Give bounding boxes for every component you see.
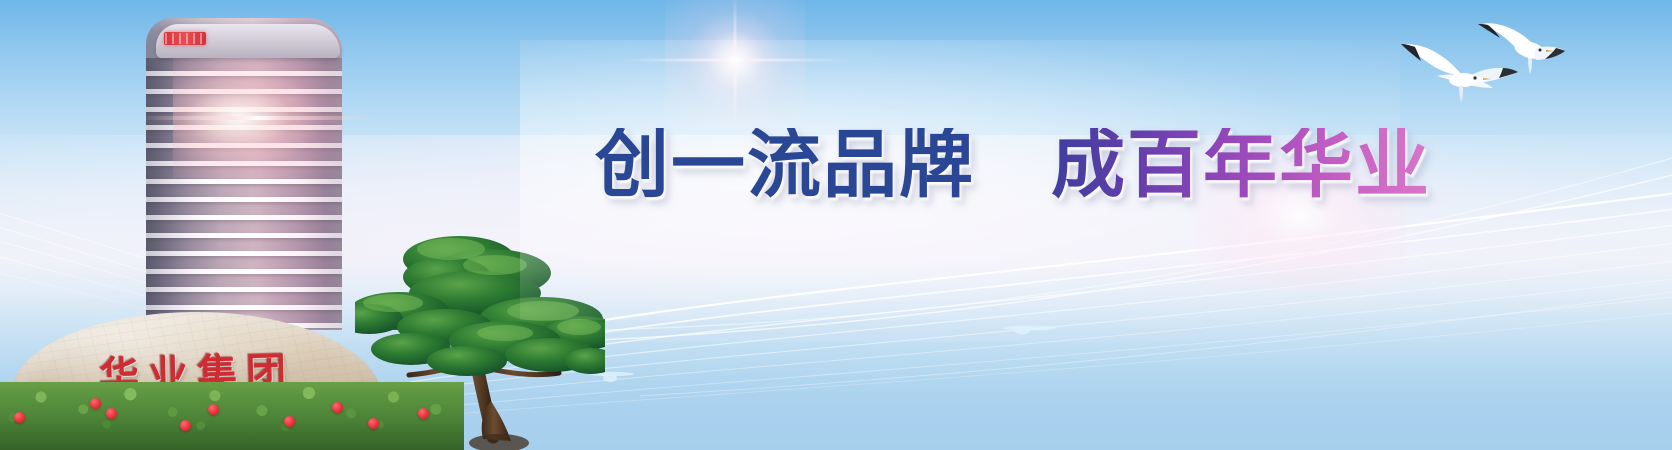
hedge-flower — [106, 408, 117, 419]
hedge-flower — [90, 398, 101, 409]
tower-floor-bands — [146, 18, 342, 330]
rooftop-sign — [164, 32, 206, 45]
hedge-flower — [208, 404, 219, 415]
slogan-container: 创一流品牌 成百年华业 — [595, 128, 1431, 220]
hedge-flower — [418, 408, 429, 419]
office-tower — [130, 0, 370, 330]
hedge-flower — [180, 420, 191, 431]
hedge-flower — [368, 418, 379, 429]
foreground-hedge — [0, 382, 464, 450]
slogan-text: 创一流品牌 成百年华业 — [595, 128, 1431, 202]
hedge-flower — [14, 412, 25, 423]
tower-mass — [146, 18, 342, 330]
hedge-flower — [332, 402, 343, 413]
hedge-leaves — [0, 382, 464, 450]
hedge-flower — [284, 416, 295, 427]
rooftop-sign-glyphs — [165, 33, 205, 44]
seagull-back — [1418, 8, 1578, 108]
hero-banner: 华业集团 — [0, 0, 1672, 450]
